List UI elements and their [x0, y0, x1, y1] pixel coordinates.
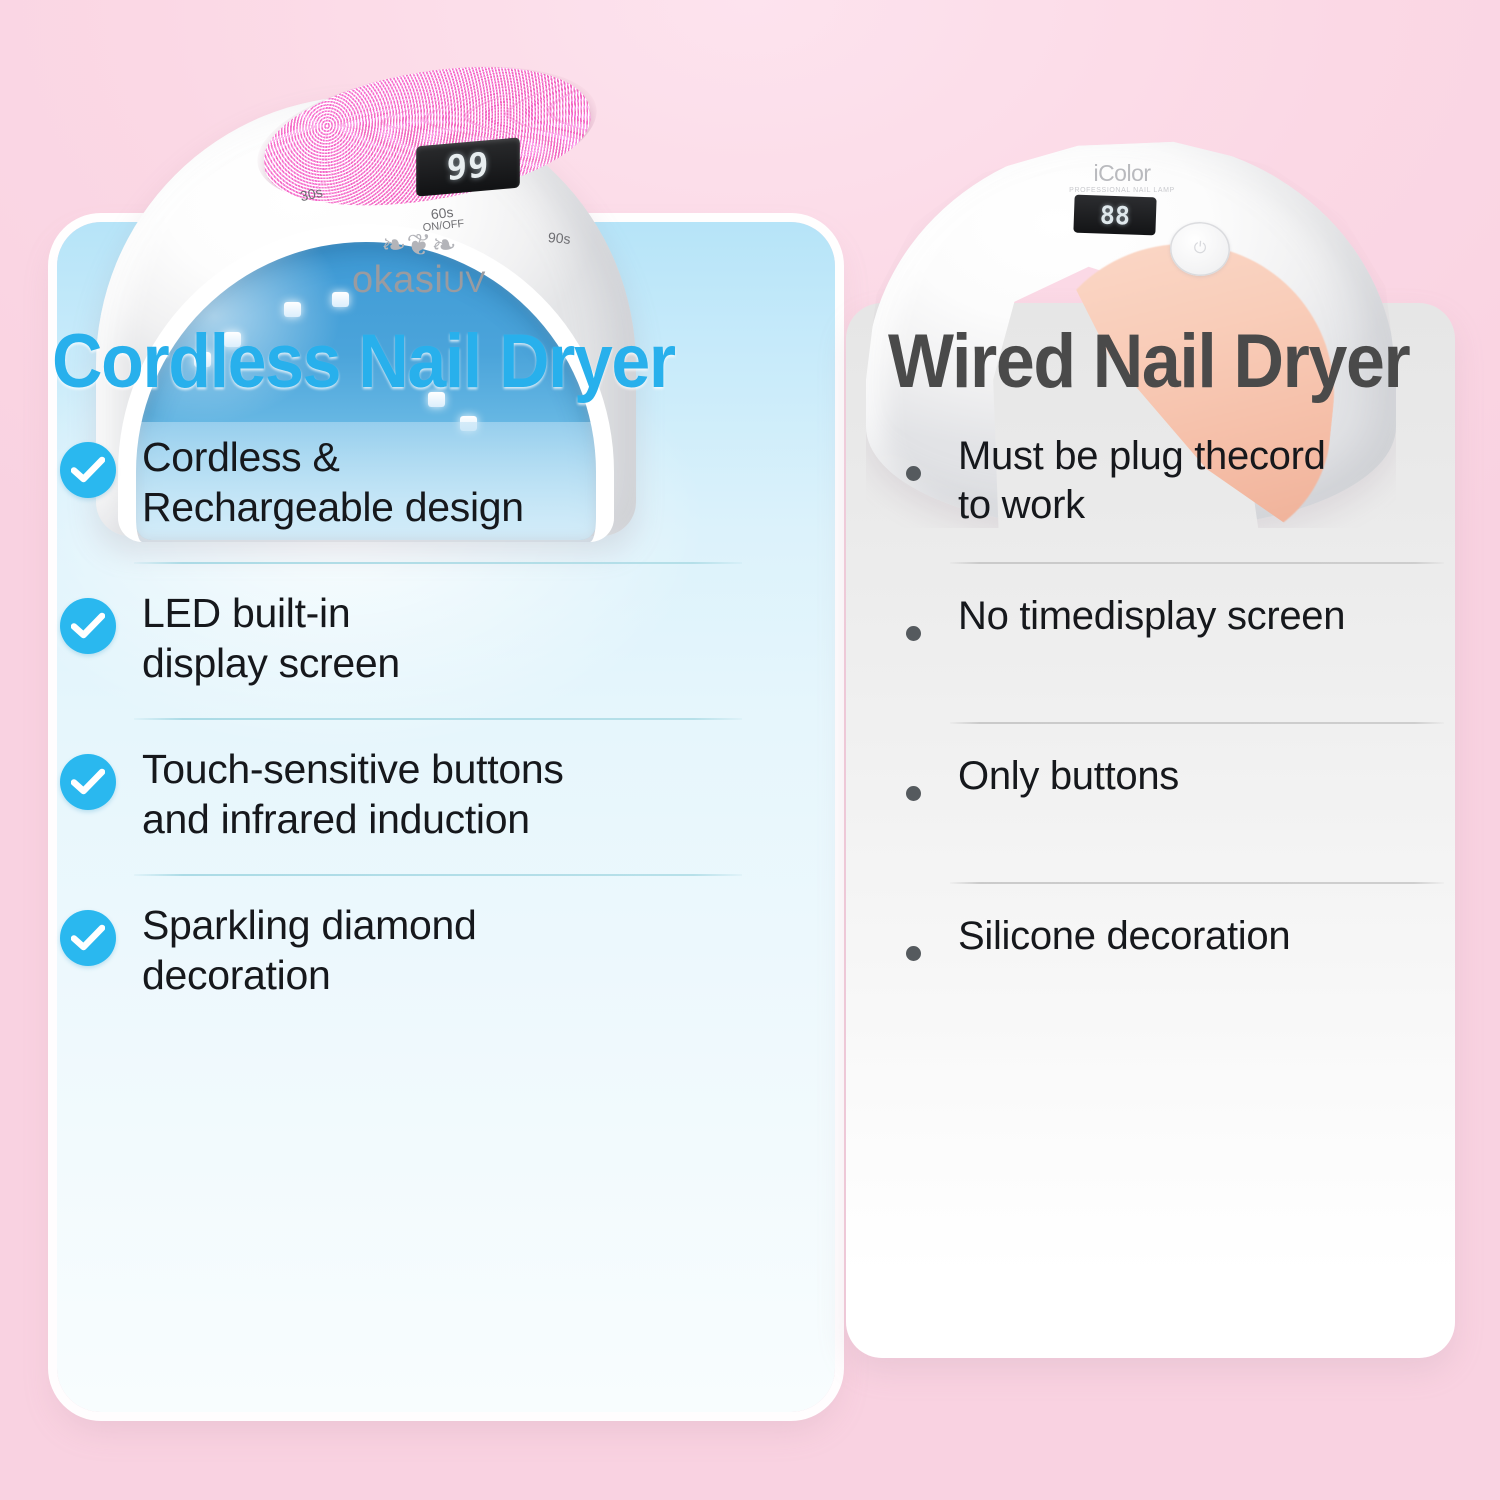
feature-text: Sparkling diamond decoration: [142, 900, 764, 1000]
feature-text: Touch-sensitive buttons and infrared ind…: [142, 744, 764, 844]
okasi-brand-logo: ❧❦❧ okasiUV: [314, 232, 524, 302]
list-item: Only buttons: [888, 752, 1454, 852]
feature-text: LED built-in display screen: [142, 588, 764, 688]
feature-text: Must be plug thecord to work: [958, 432, 1454, 530]
cordless-feature-list: Cordless & Rechargeable design LED built…: [52, 432, 764, 1004]
wired-feature-list: Must be plug thecord to work No timedisp…: [888, 432, 1454, 1012]
feature-text: Silicone decoration: [958, 912, 1454, 961]
divider: [950, 882, 1444, 884]
left-panel-title: Cordless Nail Dryer: [52, 318, 696, 405]
bullet-dot-icon: [906, 626, 921, 641]
wired-led-display: 88: [1073, 195, 1156, 236]
list-item: No timedisplay screen: [888, 592, 1454, 692]
list-item: Silicone decoration: [888, 912, 1454, 1012]
list-item: Touch-sensitive buttons and infrared ind…: [52, 744, 764, 848]
divider: [950, 722, 1444, 724]
wired-display-value: 88: [1099, 200, 1130, 230]
checkmark-icon: [60, 910, 116, 966]
feature-text: Only buttons: [958, 752, 1454, 801]
bullet-dot-icon: [906, 466, 921, 481]
brand-name-text: iColor: [1093, 160, 1150, 186]
divider: [134, 874, 742, 876]
list-item: LED built-in display screen: [52, 588, 764, 692]
led-bead: [284, 302, 301, 317]
timer-label-90s[interactable]: 90s: [547, 229, 571, 247]
right-panel-title: Wired Nail Dryer: [888, 318, 1422, 405]
logo-flourish-icon: ❧❦❧: [314, 232, 524, 259]
divider: [950, 562, 1444, 564]
brand-subtitle-text: PROFESSIONAL NAIL LAMP: [1052, 187, 1192, 194]
checkmark-icon: [60, 598, 116, 654]
feature-text: No timedisplay screen: [958, 592, 1454, 641]
feature-text: Cordless & Rechargeable design: [142, 432, 764, 532]
list-item: Cordless & Rechargeable design: [52, 432, 764, 536]
checkmark-icon: [60, 754, 116, 810]
checkmark-icon: [60, 442, 116, 498]
brand-name: okasiUV: [314, 259, 524, 302]
led-display-value: 99: [447, 145, 490, 189]
led-display-screen: 99: [416, 137, 520, 196]
brand-suffix-text: UV: [443, 266, 486, 299]
bullet-dot-icon: [906, 786, 921, 801]
list-item: Sparkling diamond decoration: [52, 900, 764, 1004]
brand-name-text: okasi: [352, 259, 443, 301]
list-item: Must be plug thecord to work: [888, 432, 1454, 532]
divider: [134, 718, 742, 720]
divider: [134, 562, 742, 564]
icolor-brand-logo: iColor PROFESSIONAL NAIL LAMP: [1052, 160, 1192, 194]
bullet-dot-icon: [906, 946, 921, 961]
